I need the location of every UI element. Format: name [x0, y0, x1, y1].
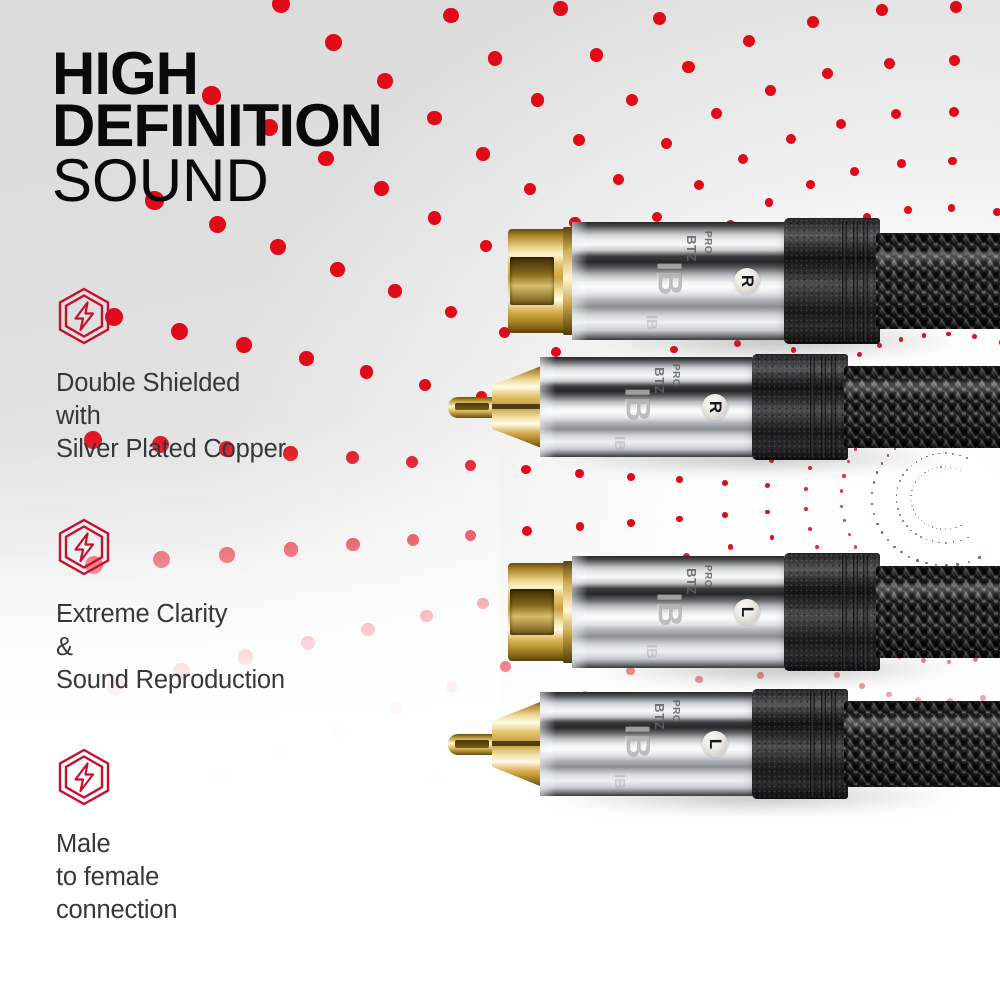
brand-logo-etched: IB: [650, 262, 689, 296]
brand-sub-etched: PRO: [670, 364, 681, 387]
brand-logo-etched: IB: [650, 593, 689, 627]
brand-sub-etched: PRO: [702, 231, 713, 254]
channel-label-r: R: [734, 268, 760, 294]
brand-logo-reflection: IB: [643, 315, 660, 330]
lightning-bolt-hexagon-icon: [56, 287, 112, 345]
brand-logo-etched: IB: [618, 725, 657, 759]
boot-rib: [842, 221, 847, 341]
channel-label-r: R: [702, 394, 728, 420]
brand-name-etched: BTZ: [652, 703, 667, 730]
rca-connector-male-r: IBBTZPROIBR: [448, 357, 1000, 457]
headline-line-3: SOUND: [52, 152, 382, 210]
brand-name-etched: BTZ: [684, 568, 699, 595]
braided-nylon-cable: [844, 701, 1000, 786]
brand-name-etched: BTZ: [684, 235, 699, 262]
boot-rib: [853, 221, 858, 341]
channel-label-text: L: [705, 739, 725, 749]
gold-plated-female-socket: [508, 229, 576, 333]
lightning-bolt-hexagon-icon: [56, 518, 112, 576]
braided-nylon-cable: [844, 366, 1000, 448]
feature-item-extreme-clarity: Extreme Clarity & Sound Reproduction: [56, 518, 285, 697]
page-title: HIGH DEFINITION SOUND: [52, 48, 382, 210]
brand-logo-reflection: IB: [643, 644, 660, 659]
boot-rib: [821, 356, 826, 458]
boot-rib: [831, 356, 836, 458]
headline-line-2: DEFINITION: [52, 100, 382, 152]
boot-rib: [863, 555, 868, 669]
channel-label-l: L: [734, 599, 760, 625]
brand-logo-reflection: IB: [611, 774, 628, 789]
brand-logo-etched: IB: [618, 388, 657, 422]
brand-name-etched: BTZ: [652, 367, 667, 394]
brand-sub-etched: PRO: [702, 564, 713, 587]
feature-label: Extreme Clarity & Sound Reproduction: [56, 598, 285, 697]
channel-label-l: L: [702, 731, 728, 757]
feature-item-double-shielded: Double Shielded with Silver Plated Coppe…: [56, 287, 286, 466]
boot-rib: [842, 555, 847, 669]
feature-label: Double Shielded with Silver Plated Coppe…: [56, 367, 286, 466]
rca-connector-female-r: IBBTZPROIBR: [508, 222, 1000, 340]
feature-label: Male to female connection: [56, 828, 177, 927]
boot-rib: [863, 221, 868, 341]
brand-sub-etched: PRO: [670, 699, 681, 722]
gold-plated-collar: [492, 365, 544, 449]
braided-nylon-cable: [876, 566, 1000, 658]
boot-rib: [810, 356, 815, 458]
gold-plated-female-socket: [508, 563, 576, 662]
lightning-bolt-hexagon-icon: [56, 748, 112, 806]
feature-item-male-to-female: Male to female connection: [56, 748, 177, 927]
boot-rib: [821, 691, 826, 797]
channel-label-text: L: [737, 607, 757, 617]
boot-rib: [810, 691, 815, 797]
boot-rib: [831, 691, 836, 797]
braided-nylon-cable: [876, 233, 1000, 330]
gold-plated-collar: [492, 700, 544, 787]
rca-connector-male-l: IBBTZPROIBL: [448, 692, 1000, 796]
channel-label-text: R: [737, 275, 757, 287]
rca-connector-female-l: IBBTZPROIBL: [508, 556, 1000, 668]
brand-logo-reflection: IB: [611, 436, 628, 451]
channel-label-text: R: [705, 401, 725, 413]
product-marketing-image: IBBTZPROIBRIBBTZPROIBRIBBTZPROIBLIBBTZPR…: [0, 0, 1000, 1000]
boot-rib: [853, 555, 858, 669]
